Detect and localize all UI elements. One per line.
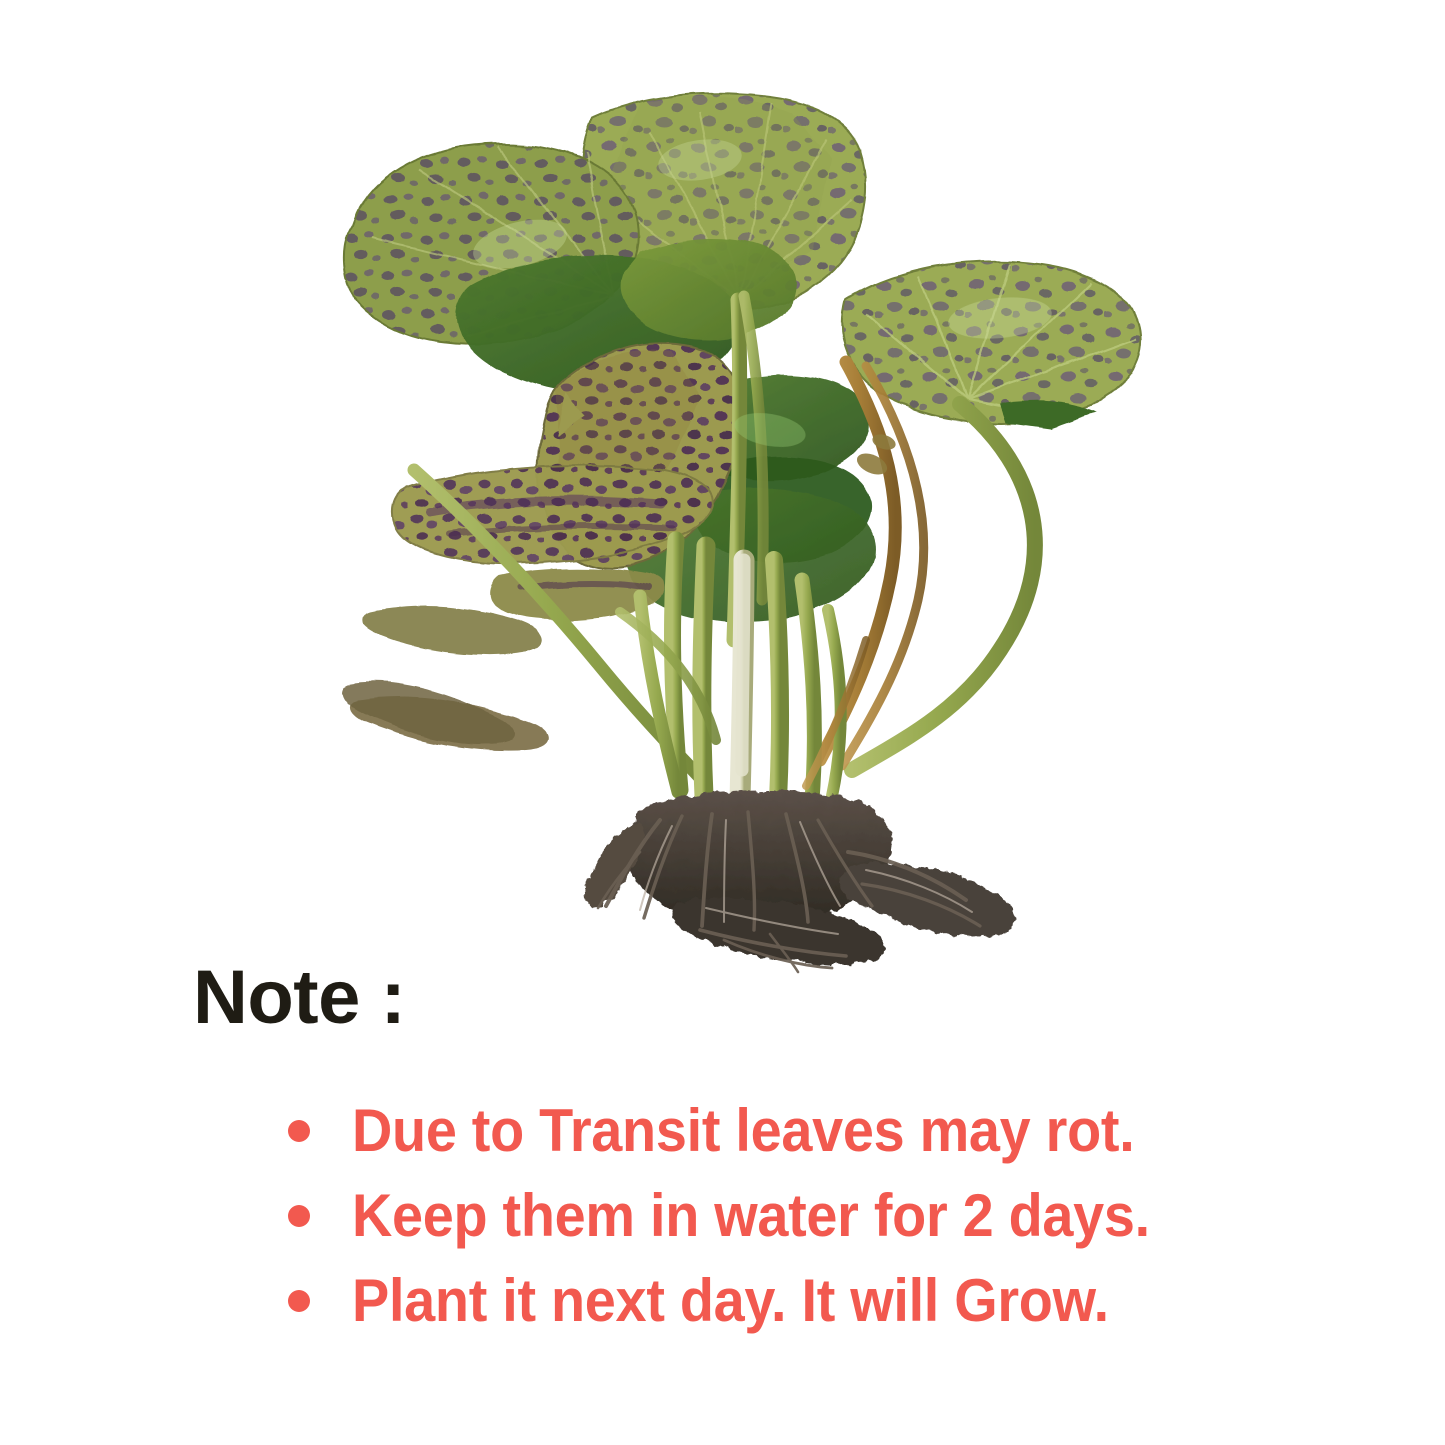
product-photo: [0, 0, 1445, 975]
page-root: Note : Due to Transit leaves may rot. Ke…: [0, 0, 1445, 1445]
bullet-dot-icon: [288, 1290, 310, 1312]
note-bullet-text: Due to Transit leaves may rot.: [352, 1101, 1315, 1161]
bullet-dot-icon: [288, 1120, 310, 1142]
bullet-dot-icon: [288, 1205, 310, 1227]
note-heading: Note :: [193, 960, 405, 1036]
note-bullet-item: Due to Transit leaves may rot.: [288, 1088, 1388, 1173]
note-section: Note : Due to Transit leaves may rot. Ke…: [0, 960, 1445, 1445]
note-bullet-list: Due to Transit leaves may rot. Keep them…: [288, 1088, 1388, 1343]
note-bullet-text: Keep them in water for 2 days.: [352, 1186, 1315, 1246]
note-bullet-item: Plant it next day. It will Grow.: [288, 1258, 1388, 1343]
note-bullet-item: Keep them in water for 2 days.: [288, 1173, 1388, 1258]
note-bullet-text: Plant it next day. It will Grow.: [352, 1271, 1315, 1331]
water-lily-plant-illustration: [0, 0, 1445, 975]
